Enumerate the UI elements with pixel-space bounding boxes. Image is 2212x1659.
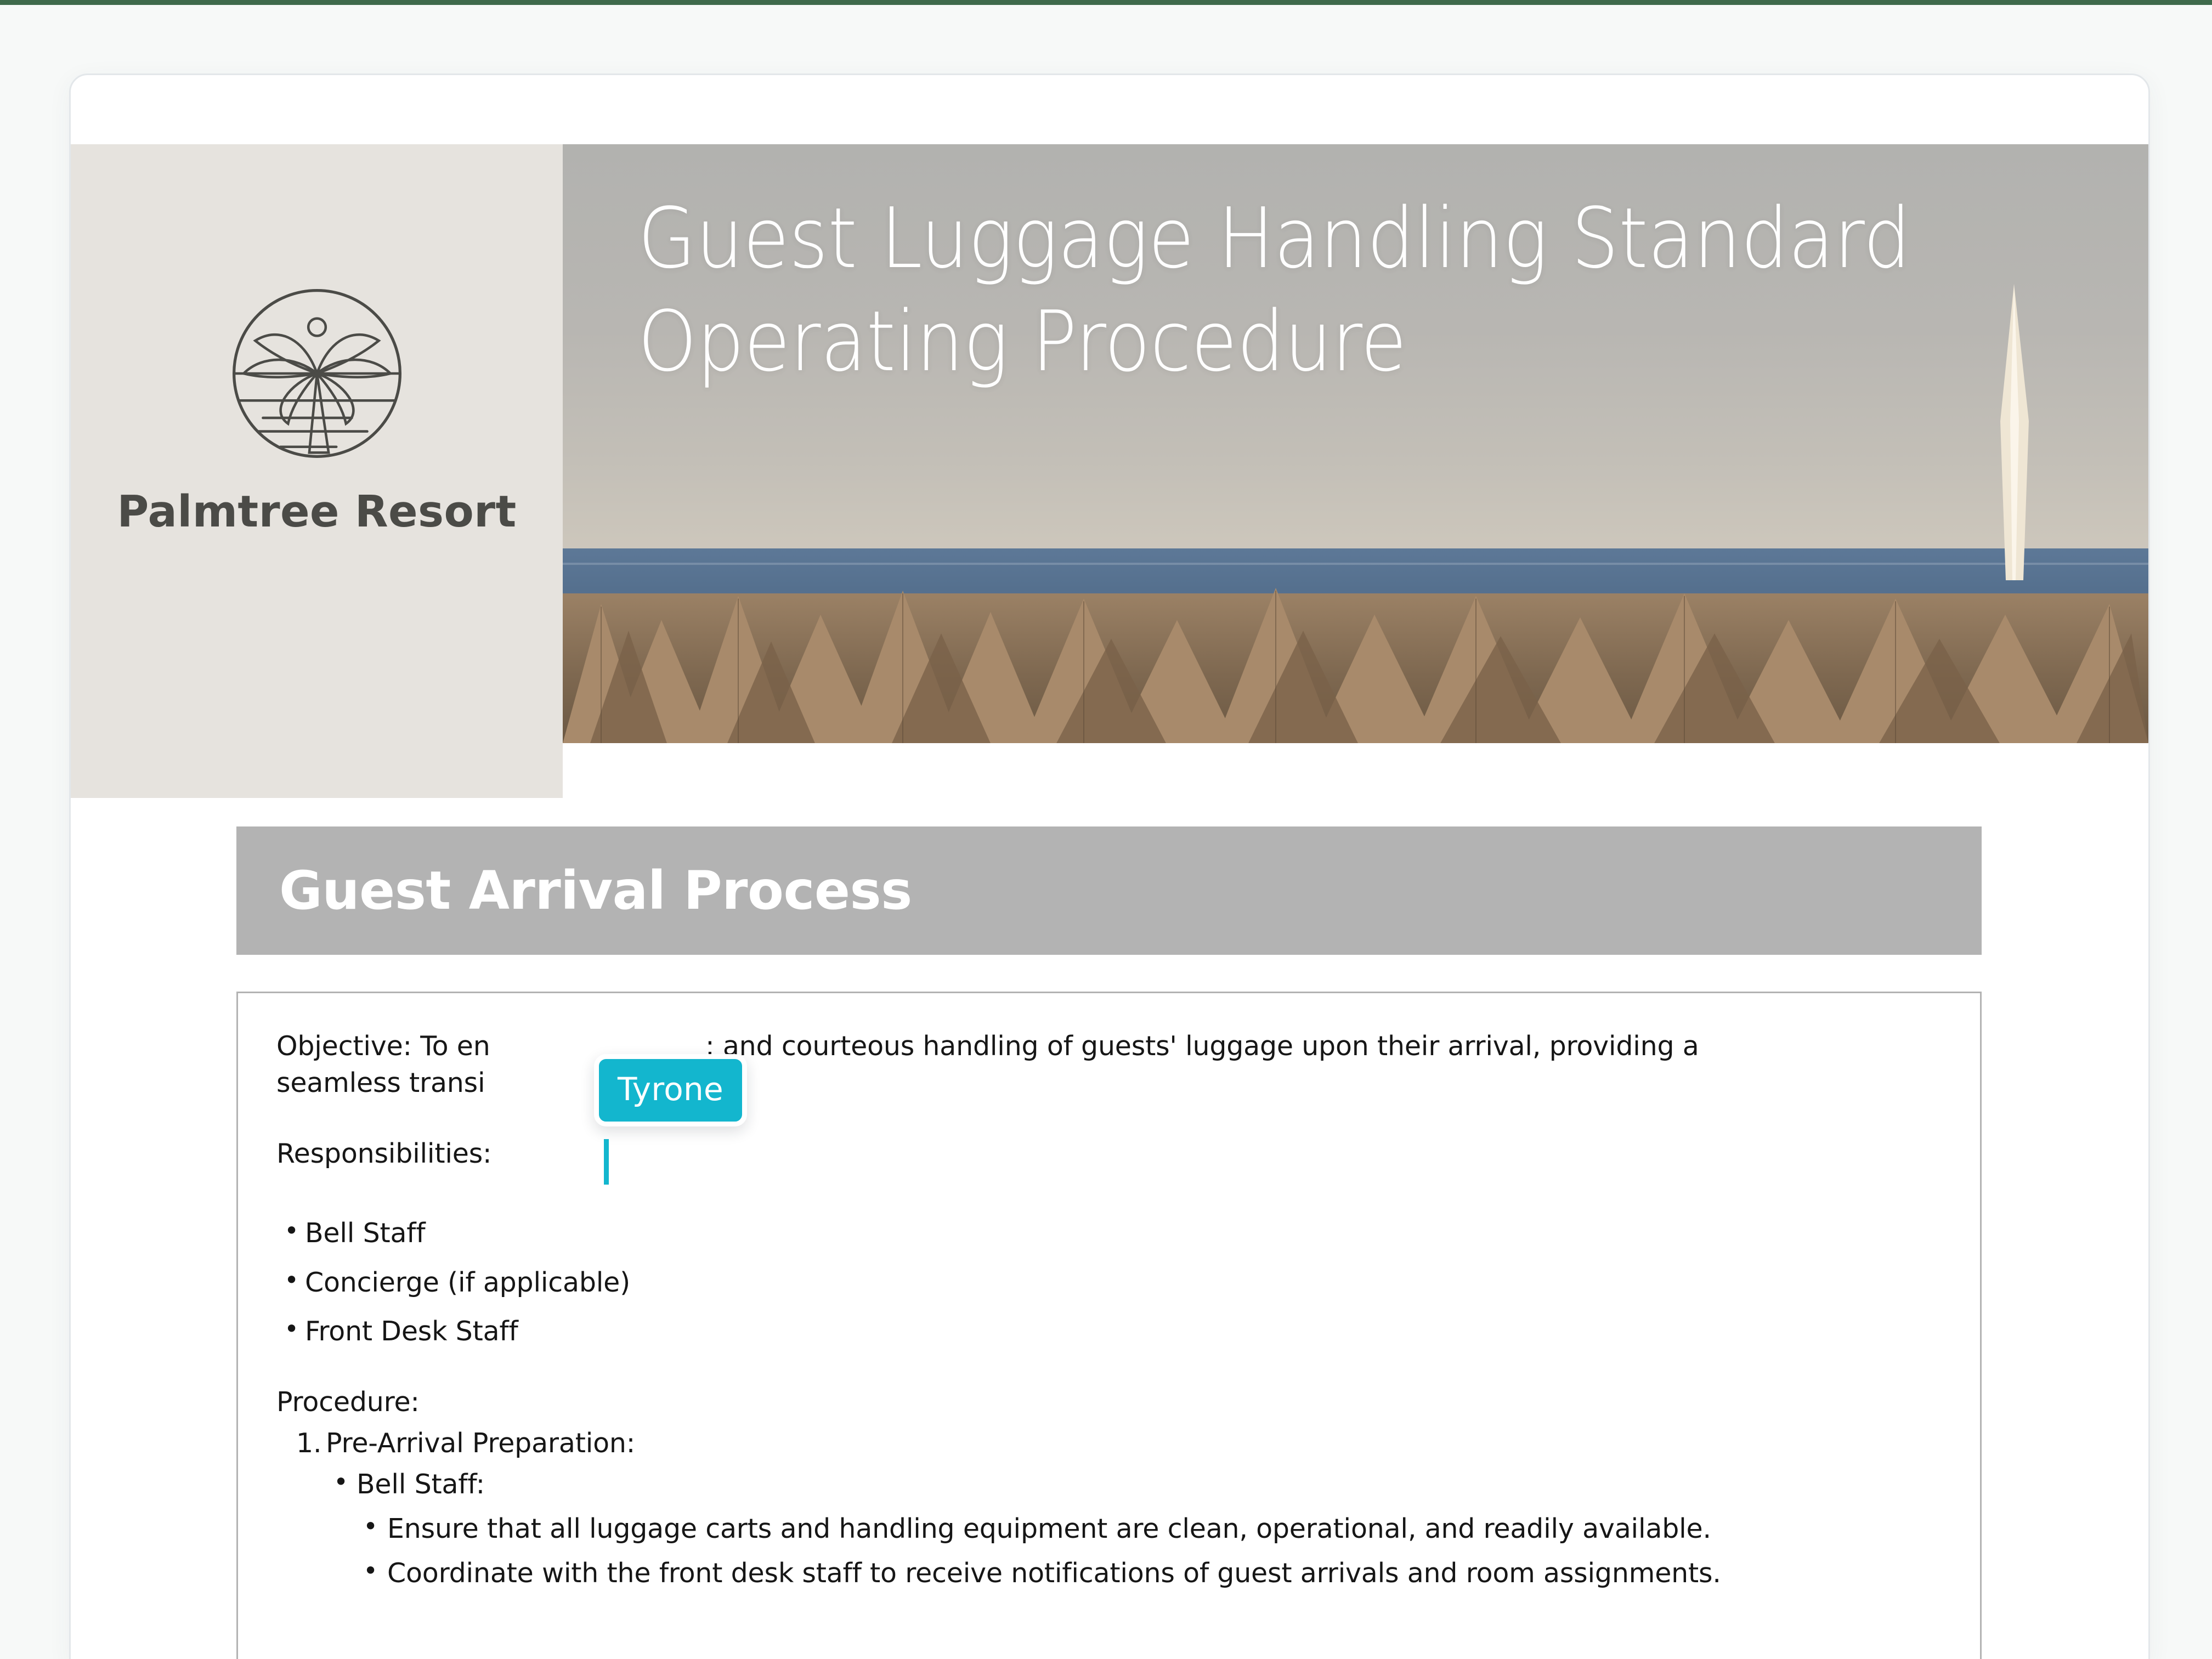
closed-parasol-icon bbox=[1984, 284, 2044, 580]
objective-prefix: Objective: To en bbox=[276, 1030, 490, 1062]
list-item: Coordinate with the front desk staff to … bbox=[357, 1555, 1942, 1592]
palm-tree-circle-icon bbox=[210, 277, 424, 470]
responsibility-label: Concierge (if applicable) bbox=[305, 1267, 630, 1298]
document-header: Palmtree Resort bbox=[71, 144, 2148, 748]
document-title: Guest Luggage Handling Standard Operatin… bbox=[638, 187, 1911, 394]
parasol-row-graphic bbox=[563, 540, 2148, 743]
list-item: Bell Staff: Ensure that all luggage cart… bbox=[326, 1466, 1942, 1592]
top-accent-bar bbox=[0, 0, 2212, 5]
document-card: Palmtree Resort bbox=[69, 73, 2150, 1659]
section-heading-band: Guest Arrival Process bbox=[236, 826, 1982, 955]
task-text: Ensure that all luggage carts and handli… bbox=[387, 1513, 1711, 1544]
procedure-task-list: Ensure that all luggage carts and handli… bbox=[357, 1510, 1942, 1592]
list-item: Concierge (if applicable) bbox=[276, 1264, 1942, 1301]
objective-paragraph: Objective: To ensure the prompt: and cou… bbox=[276, 1028, 1878, 1101]
responsibility-label: Bell Staff bbox=[305, 1218, 425, 1249]
step-title: Pre-Arrival Preparation: bbox=[326, 1428, 635, 1459]
task-text: Coordinate with the front desk staff to … bbox=[387, 1558, 1721, 1589]
list-item: Front Desk Staff bbox=[276, 1313, 1942, 1350]
objective-line2: seamless transi bbox=[276, 1067, 485, 1099]
app-root: Palmtree Resort bbox=[0, 0, 2212, 1659]
procedure-list: 1. Pre-Arrival Preparation: Bell Staff: … bbox=[276, 1425, 1942, 1592]
procedure-role-list: Bell Staff: Ensure that all luggage cart… bbox=[326, 1466, 1942, 1592]
role-label: Bell Staff: bbox=[357, 1469, 485, 1500]
procedure-step: 1. Pre-Arrival Preparation: Bell Staff: … bbox=[276, 1425, 1942, 1592]
responsibilities-list: Bell Staff Concierge (if applicable) Fro… bbox=[276, 1215, 1942, 1349]
list-item: Ensure that all luggage carts and handli… bbox=[357, 1510, 1942, 1547]
hero-image: Guest Luggage Handling Standard Operatin… bbox=[563, 144, 2148, 743]
responsibilities-label: Responsibilities: bbox=[276, 1135, 1942, 1172]
list-item: Bell Staff bbox=[276, 1215, 1942, 1252]
responsibility-label: Front Desk Staff bbox=[305, 1316, 518, 1347]
objective-rest: : and courteous handling of guests' lugg… bbox=[705, 1030, 1699, 1062]
brand-panel: Palmtree Resort bbox=[71, 144, 563, 798]
procedure-label: Procedure: bbox=[276, 1384, 1942, 1420]
step-number: 1. bbox=[296, 1425, 321, 1462]
brand-name: Palmtree Resort bbox=[117, 486, 516, 537]
section-heading-text: Guest Arrival Process bbox=[279, 860, 912, 921]
content-box[interactable]: Objective: To ensure the prompt: and cou… bbox=[236, 992, 1982, 1659]
